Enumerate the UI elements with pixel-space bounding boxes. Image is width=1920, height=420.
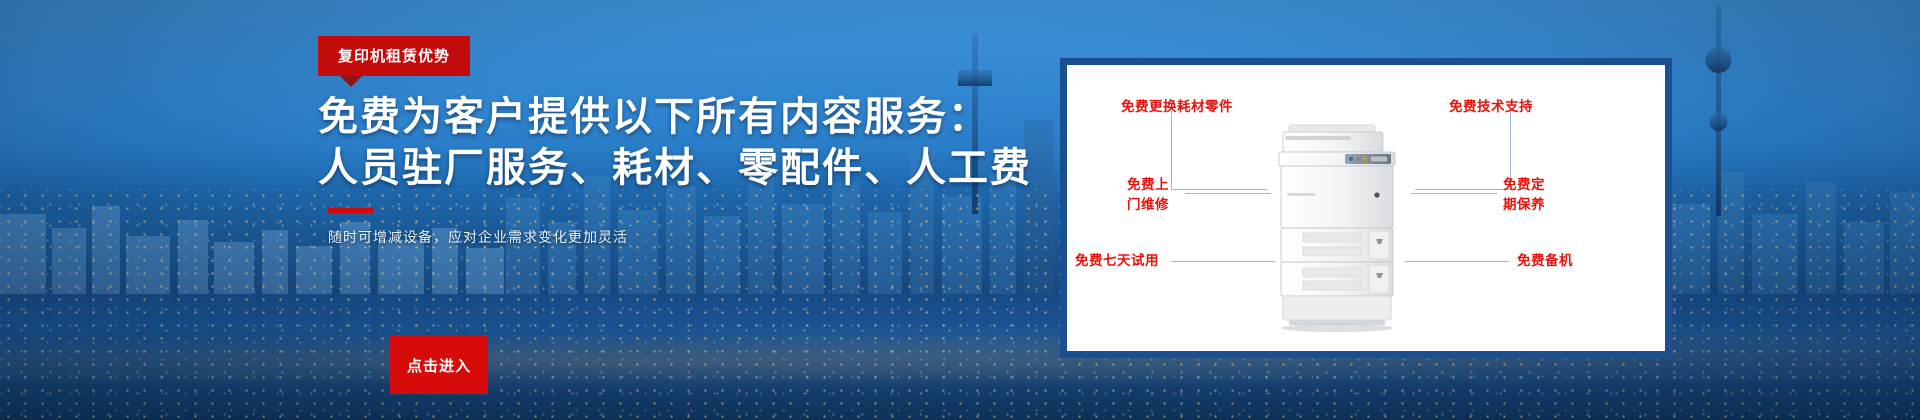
leader-line-seven-day-trial xyxy=(1171,261,1275,262)
leader-line-replace-parts xyxy=(1171,111,1267,189)
label-tech-support: 免费技术支持 xyxy=(1449,97,1533,117)
label-maintenance-line-2: 期保养 xyxy=(1503,195,1545,215)
leader-line-backup-machine xyxy=(1405,261,1509,262)
headline-block: 复印机租赁优势 免费为客户提供以下所有内容服务： 人员驻厂服务、耗材、零配件、人… xyxy=(318,36,938,247)
label-seven-day-trial: 免费七天试用 xyxy=(1075,251,1159,271)
promo-badge: 复印机租赁优势 xyxy=(318,36,470,76)
subtitle: 随时可增减设备，应对企业需求变化更加灵活 xyxy=(328,227,938,247)
enter-button[interactable]: 点击进入 xyxy=(390,336,488,394)
leader-line-tech-support xyxy=(1415,111,1511,189)
headline-line-2: 人员驻厂服务、耗材、零配件、人工费 xyxy=(318,143,938,194)
label-maintenance: 免费定 期保养 xyxy=(1503,175,1545,214)
product-panel: 免费更换耗材零件 免费技术支持 免费上 门维修 免费定 期保养 免费七天试用 免… xyxy=(1060,58,1672,358)
label-onsite-repair-line-1: 免费上 xyxy=(1127,175,1169,195)
headline-line-1: 免费为客户提供以下所有内容服务： xyxy=(318,92,938,143)
page-title: 免费为客户提供以下所有内容服务： 人员驻厂服务、耗材、零配件、人工费 xyxy=(318,92,938,194)
label-replace-parts: 免费更换耗材零件 xyxy=(1121,97,1233,117)
label-maintenance-line-1: 免费定 xyxy=(1503,175,1545,195)
badge-pointer-triangle xyxy=(340,76,362,87)
leader-line-onsite-repair xyxy=(1185,193,1271,194)
promo-badge-label: 复印机租赁优势 xyxy=(338,48,450,65)
copier-machine-illustration xyxy=(1273,123,1405,335)
promo-banner: 复印机租赁优势 免费为客户提供以下所有内容服务： 人员驻厂服务、耗材、零配件、人… xyxy=(0,0,1920,420)
label-onsite-repair: 免费上 门维修 xyxy=(1127,175,1169,214)
leader-line-maintenance xyxy=(1411,193,1497,194)
divider-rule xyxy=(328,208,374,213)
label-backup-machine: 免费备机 xyxy=(1517,251,1573,271)
label-onsite-repair-line-2: 门维修 xyxy=(1127,195,1169,215)
